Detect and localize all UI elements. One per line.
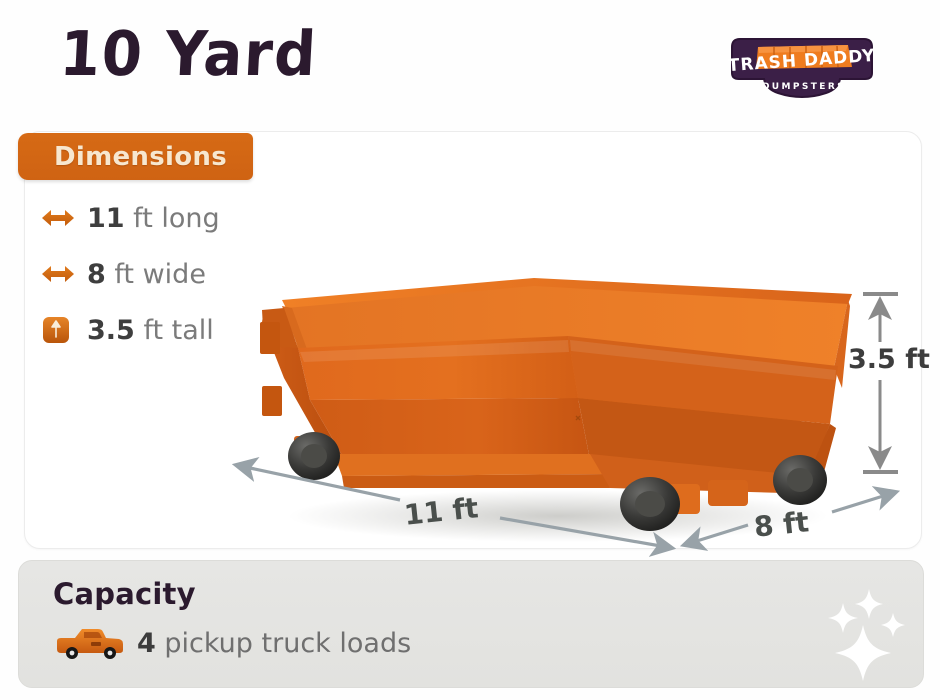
dimension-row-length: 11 ft long <box>40 200 220 236</box>
dimension-row-width: 8 ft wide <box>40 256 220 292</box>
dimension-value-length: 11 <box>87 203 125 234</box>
sparkles-decoration <box>819 581 915 685</box>
dimension-text-length: 11 ft long <box>87 203 220 234</box>
dumpster-illustration <box>238 248 868 548</box>
dimension-value-height: 3.5 <box>87 315 135 346</box>
double-arrow-horizontal-icon <box>40 203 76 233</box>
pickup-truck-icon <box>51 623 129 663</box>
logo-subbrand-text: DUMPSTERS <box>762 82 846 92</box>
dimension-row-height: 3.5 ft tall <box>40 312 220 348</box>
capacity-row: 4 pickup truck loads <box>51 623 411 663</box>
dimension-unit-height: ft tall <box>143 315 213 346</box>
dimensions-list: 11 ft long 8 ft wide <box>40 200 220 348</box>
double-arrow-horizontal-icon <box>40 259 76 289</box>
dimension-unit-length: ft long <box>133 203 219 234</box>
dumpster-size-card: 10 Yard TRASH DADDY DUMPSTERS <box>0 0 940 700</box>
capacity-panel: Capacity 4 pickup truck loads <box>18 560 924 688</box>
capacity-text: 4 pickup truck loads <box>137 628 411 659</box>
dimension-unit-width: ft wide <box>114 259 206 290</box>
dimension-text-width: 8 ft wide <box>87 259 206 290</box>
dimensions-badge: Dimensions <box>18 133 253 180</box>
arrow-up-box-icon <box>40 315 76 345</box>
dimension-text-height: 3.5 ft tall <box>87 315 214 346</box>
page-title: 10 Yard <box>58 18 319 90</box>
capacity-unit: pickup truck loads <box>164 628 411 659</box>
capacity-heading: Capacity <box>53 577 196 611</box>
dimension-value-width: 8 <box>87 259 106 290</box>
dimensions-badge-label: Dimensions <box>54 142 227 172</box>
brand-logo[interactable]: TRASH DADDY DUMPSTERS <box>722 33 882 105</box>
capacity-value: 4 <box>137 628 156 659</box>
